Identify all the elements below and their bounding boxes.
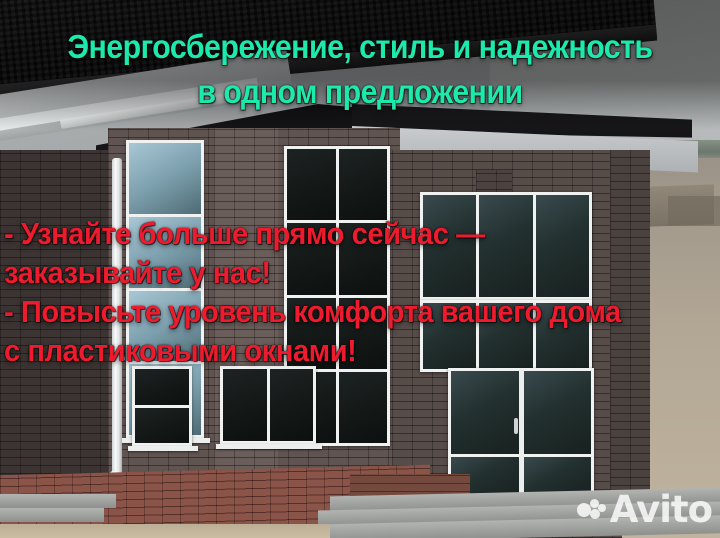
- left-step-2: [0, 508, 104, 522]
- headline: Энергосбережение, стиль и надежность в о…: [29, 24, 691, 114]
- door-mullion: [519, 368, 524, 500]
- body-text: - Узнайте больше прямо сейчас — заказыва…: [4, 214, 677, 370]
- avito-wordmark: Avito: [610, 491, 712, 528]
- avito-logo-icon: [577, 498, 605, 522]
- headline-line-1: Энергосбережение, стиль и надежность: [67, 28, 652, 65]
- window-lower-left: [132, 366, 192, 446]
- window-sill-lower-left: [128, 446, 198, 451]
- sand-ground: [0, 524, 330, 538]
- headline-line-2: в одном предложении: [29, 69, 691, 114]
- door-handle: [514, 418, 518, 434]
- window-sill-lower-right: [216, 444, 322, 449]
- body-line-1: - Узнайте больше прямо сейчас —: [4, 214, 677, 253]
- window-lower-right: [220, 366, 316, 444]
- body-line-3: - Повысьте уровень комфорта вашего дома: [4, 292, 677, 331]
- left-step-1: [0, 494, 116, 508]
- advertisement-banner: Энергосбережение, стиль и надежность в о…: [0, 0, 720, 538]
- body-line-4: с пластиковыми окнами!: [4, 331, 677, 370]
- body-line-2: заказывайте у нас!: [4, 253, 677, 292]
- avito-watermark: Avito: [577, 491, 712, 528]
